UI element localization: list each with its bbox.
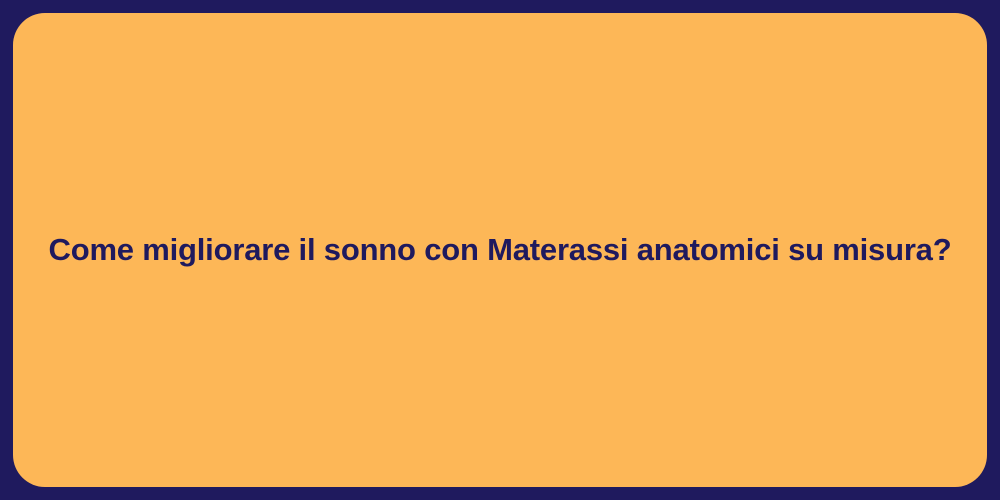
banner-frame: Come migliorare il sonno con Materassi a… xyxy=(0,0,1000,500)
banner-panel: Come migliorare il sonno con Materassi a… xyxy=(13,13,987,487)
banner-card: Come migliorare il sonno con Materassi a… xyxy=(0,0,1000,500)
banner-headline: Come migliorare il sonno con Materassi a… xyxy=(49,232,952,269)
